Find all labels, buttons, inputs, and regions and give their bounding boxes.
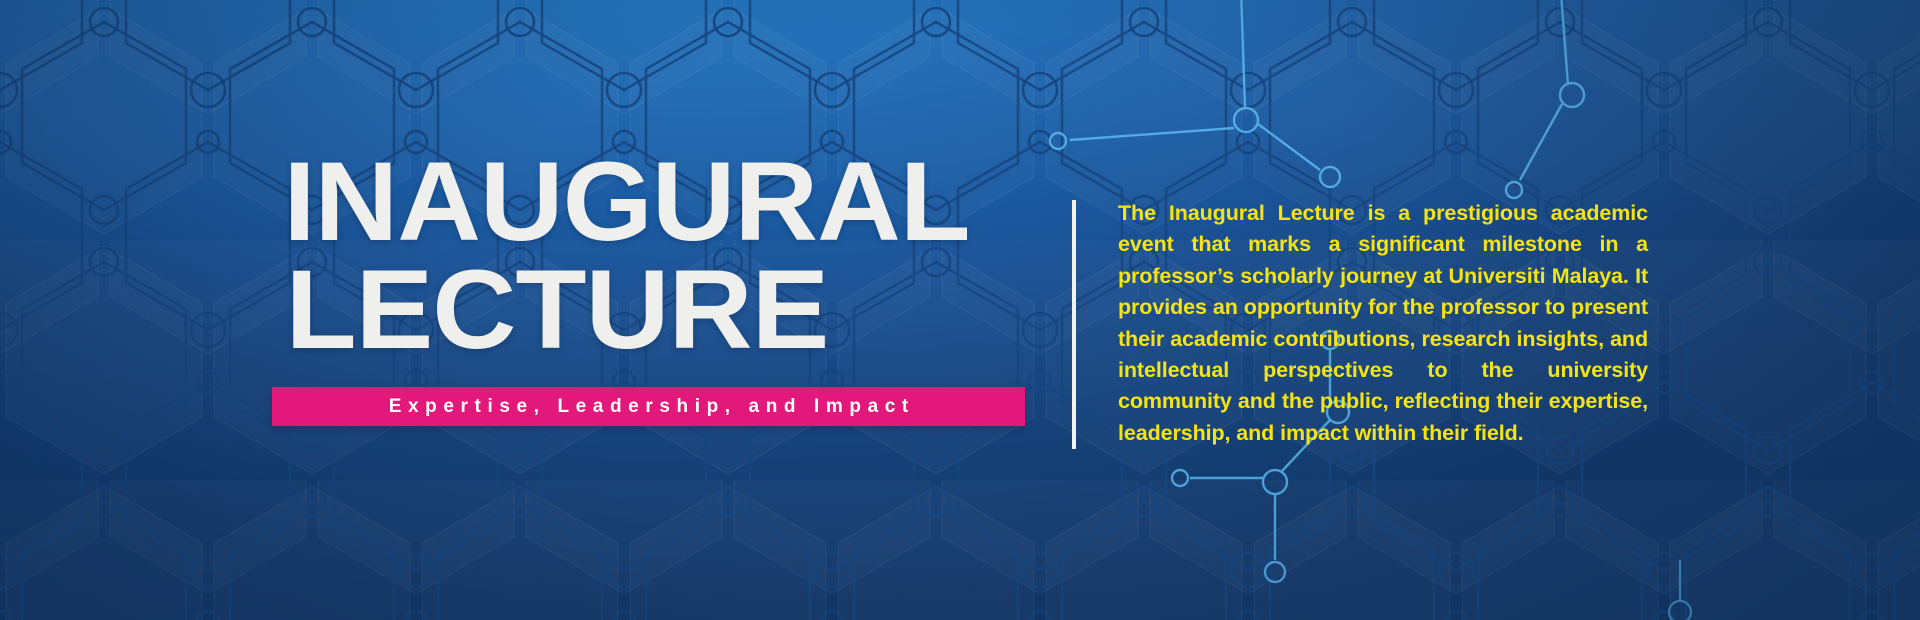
description-block: The Inaugural Lecture is a prestigious a…	[1118, 198, 1648, 449]
page-title-line-1: INAUGURAL	[272, 150, 1059, 254]
subtitle-text: Expertise, Leadership, and Impact	[382, 396, 915, 418]
inaugural-lecture-banner: INAUGURAL LECTURE Expertise, Leadership,…	[0, 0, 1920, 620]
page-title-line-2: LECTURE	[272, 258, 1062, 362]
subtitle-banner-bar: Expertise, Leadership, and Impact	[272, 387, 1025, 426]
vertical-rule	[1072, 200, 1076, 449]
description-paragraph: The Inaugural Lecture is a prestigious a…	[1118, 198, 1648, 449]
headline-block: INAUGURAL LECTURE Expertise, Leadership,…	[272, 150, 1032, 426]
